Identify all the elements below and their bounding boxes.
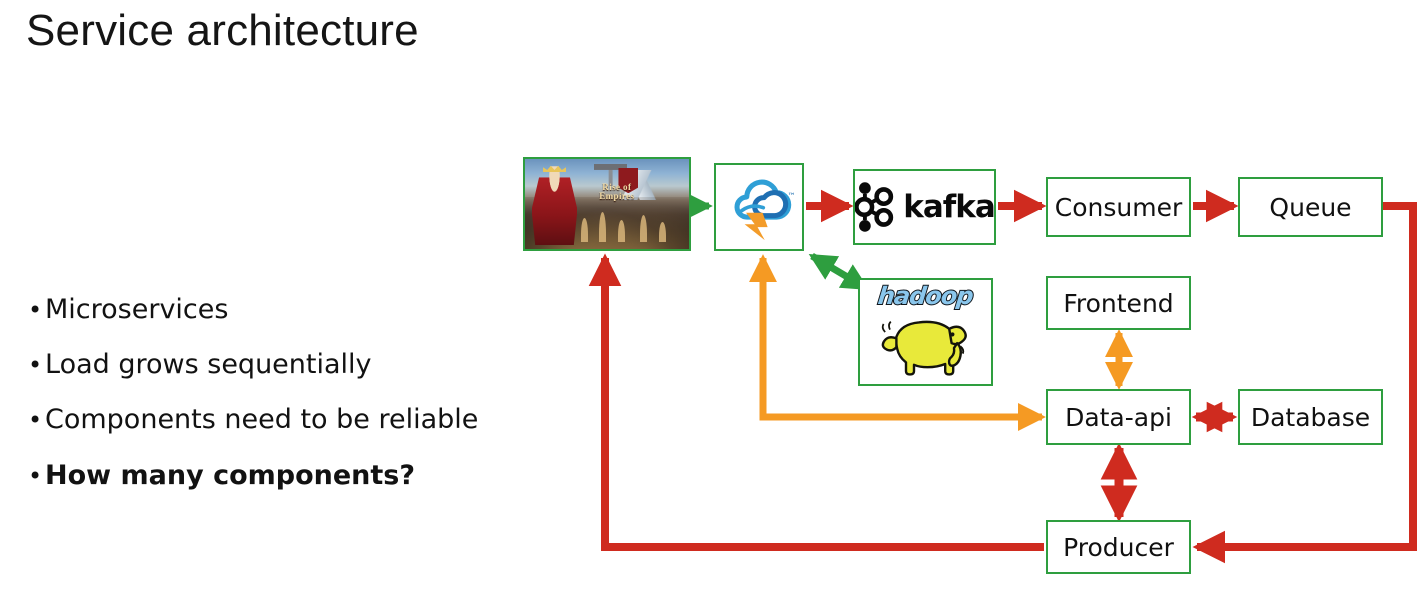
node-kafka[interactable]: kafka xyxy=(853,169,996,245)
storm-cloud-icon: ™ xyxy=(722,171,796,243)
node-database-label: Database xyxy=(1251,405,1370,430)
spire-decor xyxy=(599,212,606,242)
architecture-diagram: Rise of Empires ™ kafka xyxy=(0,0,1428,610)
node-consumer-label: Consumer xyxy=(1055,195,1182,220)
hadoop-wordmark: hadoop xyxy=(877,284,974,308)
node-data-api-label: Data-api xyxy=(1065,405,1172,430)
spire-decor xyxy=(640,215,647,242)
node-consumer[interactable]: Consumer xyxy=(1046,177,1191,237)
node-producer-label: Producer xyxy=(1063,535,1174,560)
game-artwork-image: Rise of Empires xyxy=(525,159,689,249)
node-game-client[interactable]: Rise of Empires xyxy=(523,157,691,251)
node-database[interactable]: Database xyxy=(1238,389,1383,445)
svg-text:™: ™ xyxy=(788,191,796,200)
node-frontend[interactable]: Frontend xyxy=(1046,276,1191,330)
kafka-wordmark: kafka xyxy=(903,192,995,223)
node-frontend-label: Frontend xyxy=(1063,291,1173,316)
node-data-api[interactable]: Data-api xyxy=(1046,389,1191,445)
edge-queue-to-producer xyxy=(1197,206,1413,547)
spire-decor xyxy=(581,218,588,241)
node-hadoop[interactable]: hadoop xyxy=(858,278,993,386)
kafka-icon xyxy=(854,181,894,233)
king-character-decor xyxy=(532,166,578,245)
node-producer[interactable]: Producer xyxy=(1046,520,1191,574)
node-queue[interactable]: Queue xyxy=(1238,177,1383,237)
node-apache-storm[interactable]: ™ xyxy=(714,163,804,251)
diagram-connectors xyxy=(0,0,1428,610)
hadoop-elephant-icon xyxy=(874,308,978,380)
node-queue-label: Queue xyxy=(1269,195,1351,220)
game-title-label: Rise of Empires xyxy=(584,183,650,201)
